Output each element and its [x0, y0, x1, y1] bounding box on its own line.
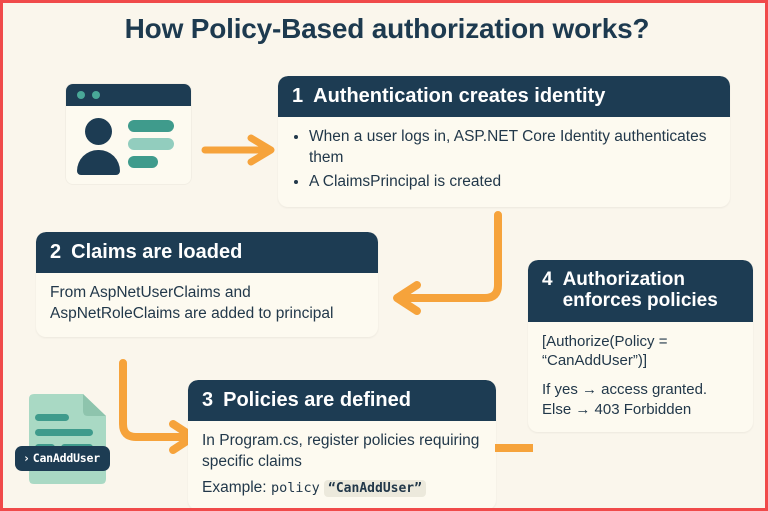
step-3-example-prefix: Example: [202, 479, 267, 496]
step-1-body: When a user logs in, ASP.NET Core Identi… [278, 117, 730, 207]
step-3-example-code-text: CanAddUser [336, 481, 414, 496]
window-dot-icon [77, 91, 85, 99]
step-1-bullet-list: When a user logs in, ASP.NET Core Identi… [292, 127, 716, 192]
chevron-right-icon: › [23, 451, 30, 465]
step-3-example-keyword: policy [271, 480, 320, 496]
avatar-head-icon [85, 118, 112, 145]
step-4-heading: Authorization enforces policies [563, 269, 739, 312]
window-dot-icon [92, 91, 100, 99]
document-policy-badge-label: CanAddUser [33, 451, 100, 465]
step-1-number: 1 [292, 85, 303, 107]
step-card-2: 2 Claims are loaded From AspNetUserClaim… [36, 232, 378, 337]
arrow-icon-step1-to-step2 [383, 215, 543, 325]
profile-card-titlebar [66, 84, 191, 106]
step-3-header: 3 Policies are defined [188, 380, 496, 421]
step-1-header: 1 Authentication creates identity [278, 76, 730, 117]
step-3-number: 3 [202, 389, 213, 411]
profile-line-icon [128, 138, 174, 150]
document-icon [23, 393, 107, 485]
step-2-text: From AspNetUserClaims and AspNetRoleClai… [50, 283, 364, 324]
step-4-result-line2: Else → 403 Forbidden [542, 401, 691, 418]
profile-line-icon [128, 156, 158, 168]
page-title: How Policy-Based authorization works? [3, 13, 768, 45]
document-line-icon [35, 414, 69, 421]
step-4-body: [Authorize(Policy = “CanAddUser”)] If ye… [528, 322, 753, 433]
step-3-heading: Policies are defined [223, 389, 411, 411]
document-shape-icon [23, 393, 107, 485]
step-1-heading: Authentication creates identity [313, 85, 605, 107]
document-line-icon [35, 429, 93, 436]
avatar-body-icon [77, 150, 120, 175]
arrow-icon-profile-to-step1 [203, 135, 283, 165]
step-card-4: 4 Authorization enforces policies [Autho… [528, 260, 753, 432]
step-3-example: Example: policy “CanAddUser” [202, 478, 482, 499]
step-4-header: 4 Authorization enforces policies [528, 260, 753, 322]
step-2-body: From AspNetUserClaims and AspNetRoleClai… [36, 273, 378, 336]
step-3-body: In Program.cs, register policies requiri… [188, 421, 496, 510]
step-4-number: 4 [542, 269, 553, 290]
list-item: When a user logs in, ASP.NET Core Identi… [309, 127, 716, 168]
step-2-number: 2 [50, 241, 61, 263]
profile-card-icon [66, 84, 191, 184]
step-2-heading: Claims are loaded [71, 241, 242, 263]
arrow-icon-step3-to-step4 [493, 441, 538, 455]
step-4-code: [Authorize(Policy = “CanAddUser”)] [542, 332, 739, 372]
infographic-canvas: How Policy-Based authorization works? 1 … [0, 0, 768, 511]
step-card-1: 1 Authentication creates identity When a… [278, 76, 730, 207]
step-3-example-code: “CanAddUser” [324, 480, 426, 497]
profile-line-icon [128, 120, 174, 132]
step-3-text: In Program.cs, register policies requiri… [202, 431, 482, 472]
step-4-result: If yes → access granted. Else → 403 Forb… [542, 380, 739, 420]
quote-close: ” [414, 481, 422, 496]
list-item: A ClaimsPrincipal is created [309, 172, 716, 193]
step-card-3: 3 Policies are defined In Program.cs, re… [188, 380, 496, 510]
step-2-header: 2 Claims are loaded [36, 232, 378, 273]
profile-card-content [66, 106, 191, 184]
document-policy-badge: ›CanAddUser [15, 446, 110, 471]
step-4-result-line1: If yes → access granted. [542, 381, 707, 398]
quote-open: “ [328, 481, 336, 496]
